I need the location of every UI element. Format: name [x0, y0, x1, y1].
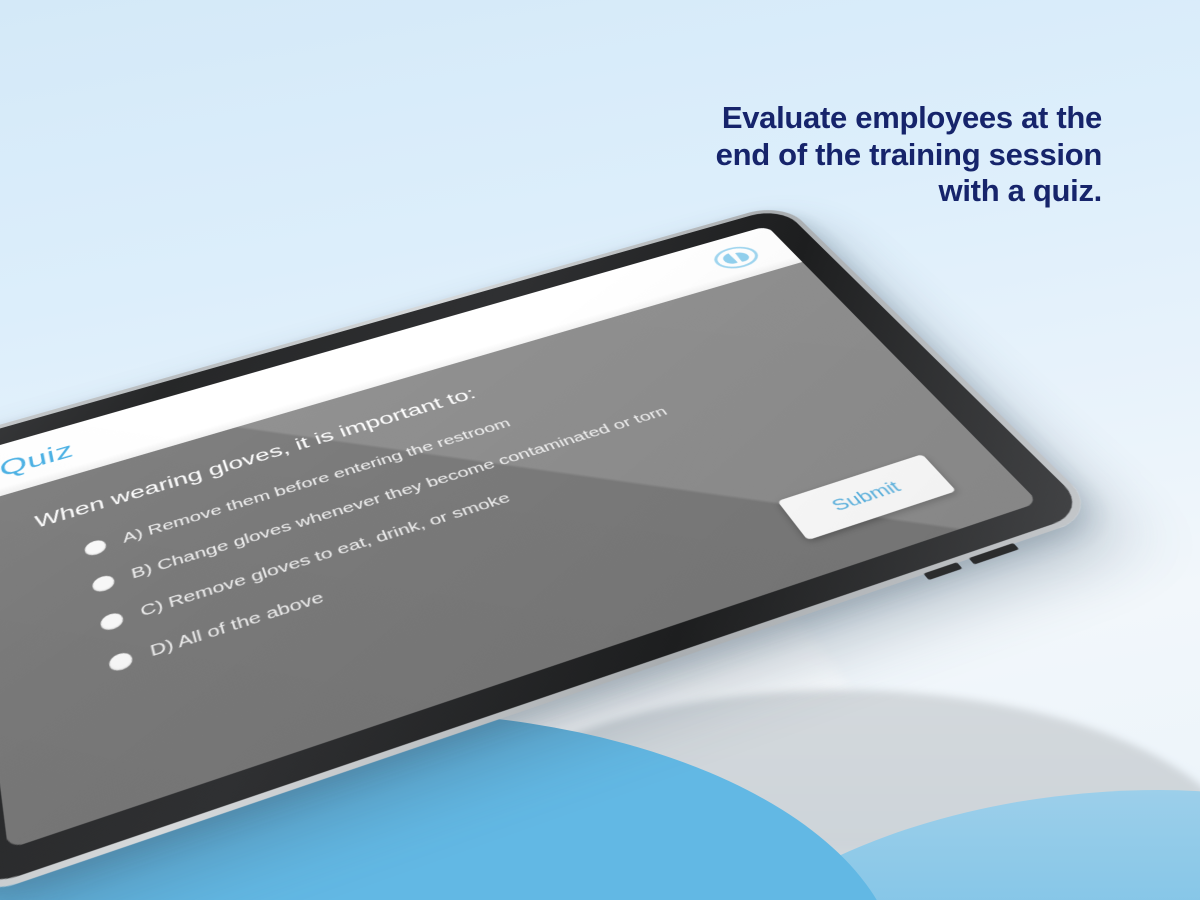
- two-people-circle-logo-icon: [704, 240, 769, 276]
- quiz-options-list: A) Remove them before entering the restr…: [41, 327, 893, 689]
- submit-button[interactable]: Submit: [777, 454, 957, 540]
- quiz-option-label-d: D) All of the above: [149, 589, 327, 660]
- tablet-side-button-power[interactable]: [969, 543, 1020, 565]
- submit-button-wrapper: Submit: [777, 454, 957, 540]
- tablet-screen: Quiz When wearing gloves, it is importan…: [0, 226, 1039, 849]
- headline-line-1: Evaluate employees at the: [632, 100, 1102, 137]
- tablet-side-button-volume[interactable]: [923, 562, 962, 580]
- quiz-option-d[interactable]: D) All of the above: [108, 412, 893, 674]
- radio-button-icon-b[interactable]: [91, 573, 116, 594]
- app-title: Quiz: [0, 438, 76, 482]
- tablet-stage: Quiz When wearing gloves, it is importan…: [0, 168, 1060, 848]
- radio-button-icon-c[interactable]: [99, 611, 125, 633]
- tablet-device: Quiz When wearing gloves, it is importan…: [0, 203, 1102, 900]
- tablet-frame: Quiz When wearing gloves, it is importan…: [0, 203, 1102, 900]
- tablet-bezel: Quiz When wearing gloves, it is importan…: [0, 207, 1090, 893]
- quiz-body: When wearing gloves, it is important to:…: [0, 262, 1039, 849]
- radio-button-icon-a[interactable]: [83, 538, 107, 558]
- radio-button-icon-d[interactable]: [108, 650, 134, 673]
